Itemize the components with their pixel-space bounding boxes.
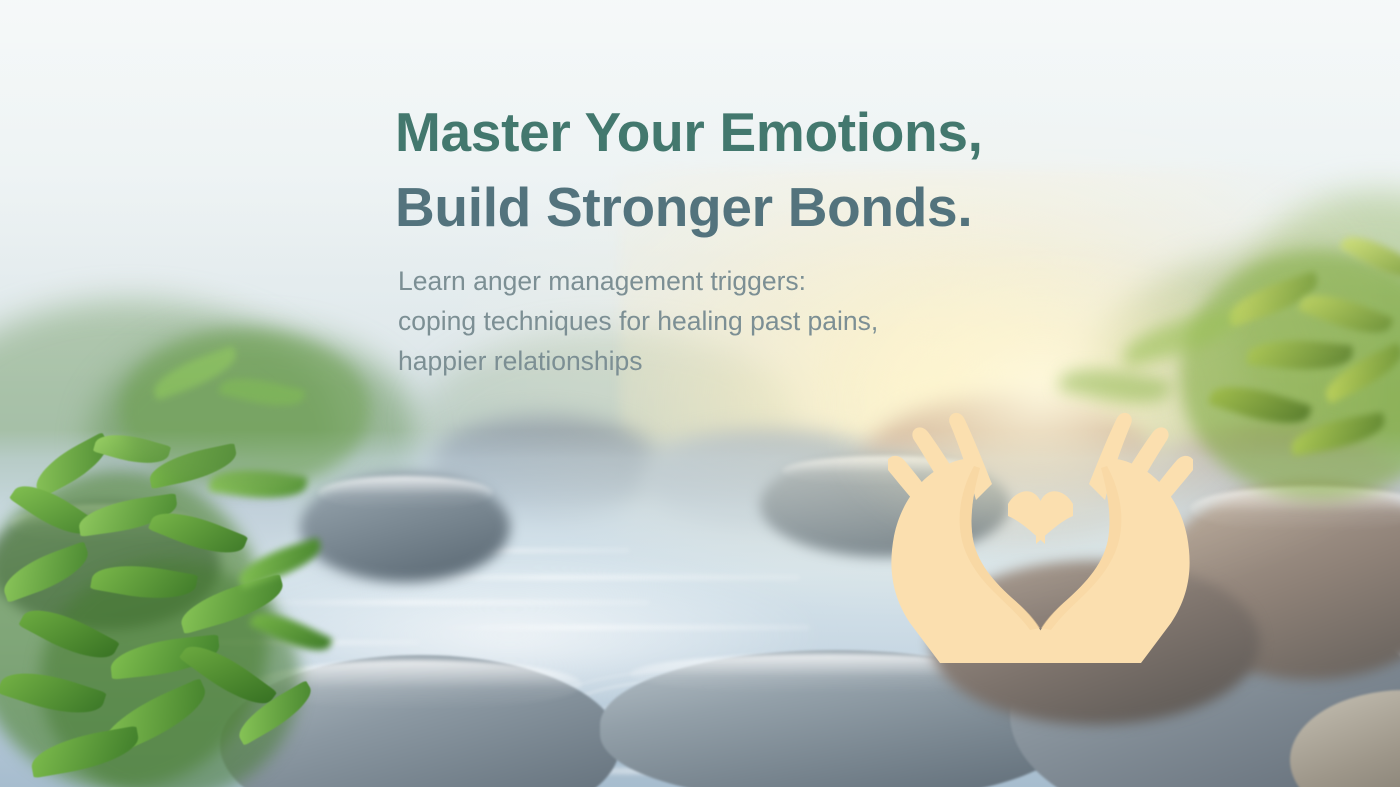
water-flow-line-3 xyxy=(250,600,650,605)
subtitle-line-3: happier relationships xyxy=(398,341,1095,381)
subtitle-line-2: coping techniques for healing past pains… xyxy=(398,301,1095,341)
page-subtitle: Learn anger management triggers: coping … xyxy=(398,261,1095,382)
title-text-block: Master Your Emotions, Build Stronger Bon… xyxy=(395,95,1095,381)
heart-hands-icon xyxy=(888,408,1193,663)
headline-line-1: Master Your Emotions, xyxy=(395,95,1095,170)
subtitle-line-1: Learn anger management triggers: xyxy=(398,261,1095,301)
foliage-upper-left xyxy=(120,330,370,490)
rock-mid-center-highlight xyxy=(318,476,493,510)
headline-line-2: Build Stronger Bonds. xyxy=(395,170,1095,245)
water-flow-line-4 xyxy=(430,625,810,630)
title-slide: Master Your Emotions, Build Stronger Bon… xyxy=(0,0,1400,787)
page-title: Master Your Emotions, Build Stronger Bon… xyxy=(395,95,1095,245)
